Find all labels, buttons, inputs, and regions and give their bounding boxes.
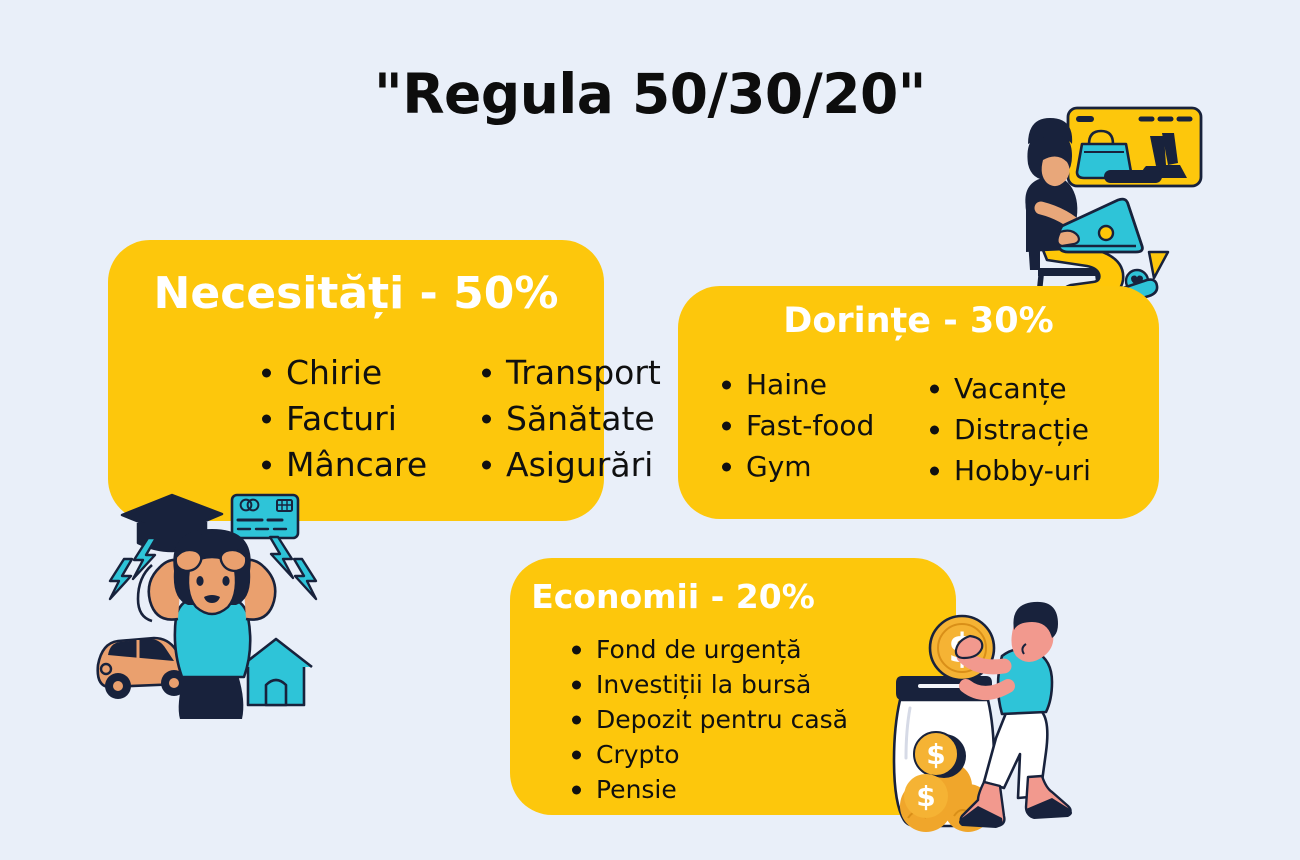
- list-item: Vacanțe: [926, 368, 1091, 409]
- credit-card-icon: [232, 495, 298, 538]
- card-needs[interactable]: Necesități - 50% Chirie Facturi Mâncare …: [108, 240, 604, 521]
- stressed-woman-with-expenses-illustration: [80, 483, 342, 721]
- list-item: Fond de urgență: [568, 632, 848, 667]
- list-item: Depozit pentru casă: [568, 702, 848, 737]
- list-item: Facturi: [258, 396, 427, 442]
- lightning-bolt-icon: [270, 537, 316, 599]
- list-item: Distracție: [926, 409, 1091, 450]
- card-wants-title: Dorințe - 30%: [678, 304, 1159, 339]
- list-item: Fast-food: [718, 405, 874, 446]
- list-item: Chirie: [258, 350, 427, 396]
- card-wants-column-b: Vacanțe Distracție Hobby-uri: [926, 368, 1091, 491]
- list-item: Haine: [718, 364, 874, 405]
- list-item: Gym: [718, 446, 874, 487]
- list-item: Transport: [478, 350, 661, 396]
- card-wants[interactable]: Dorințe - 30% Haine Fast-food Gym Vacanț…: [678, 286, 1159, 519]
- list-item: Hobby-uri: [926, 450, 1091, 491]
- person-saving-coins-in-jar-illustration: $ $ $: [876, 600, 1108, 838]
- infographic-canvas: "Regula 50/30/20": [0, 0, 1300, 860]
- list-item: Asigurări: [478, 442, 661, 488]
- list-item: Pensie: [568, 772, 848, 807]
- list-item: Crypto: [568, 737, 848, 772]
- card-needs-column-a: Chirie Facturi Mâncare: [258, 350, 427, 488]
- card-savings-column-a: Fond de urgență Investiții la bursă Depo…: [568, 632, 848, 807]
- list-item: Investiții la bursă: [568, 667, 848, 702]
- svg-text:$: $: [916, 780, 935, 813]
- card-wants-column-a: Haine Fast-food Gym: [718, 364, 874, 487]
- card-needs-column-b: Transport Sănătate Asigurări: [478, 350, 661, 488]
- svg-text:$: $: [926, 738, 945, 771]
- list-item: Sănătate: [478, 396, 661, 442]
- list-item: Mâncare: [258, 442, 427, 488]
- card-needs-title: Necesități - 50%: [108, 272, 604, 316]
